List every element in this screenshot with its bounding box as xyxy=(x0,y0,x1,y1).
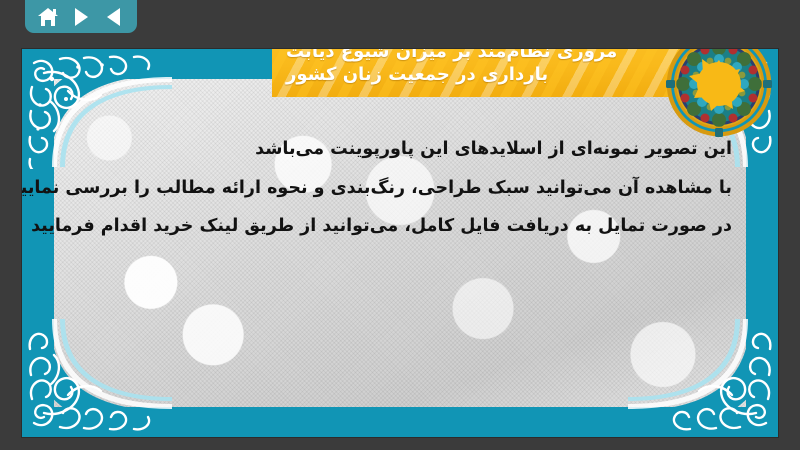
body-line-1: این تصویر نمونه‌ای از اسلایدهای این پاور… xyxy=(68,141,732,159)
slide-viewer-root: مروری نظام‌مند بر میزان شیوع دیابت باردا… xyxy=(0,0,800,450)
navigation-toolbar xyxy=(25,0,137,33)
persian-medallion-icon xyxy=(666,49,772,137)
home-icon xyxy=(38,8,58,26)
next-slide-button[interactable] xyxy=(68,4,94,30)
home-button[interactable] xyxy=(35,4,61,30)
body-line-3: در صورت تمایل به دریافت فایل کامل، می‌تو… xyxy=(68,218,732,236)
presentation-slide: مروری نظام‌مند بر میزان شیوع دیابت باردا… xyxy=(22,49,778,437)
slide-title-line-2: بارداری در جمعیت زنان کشور xyxy=(286,63,548,86)
arrow-right-icon xyxy=(75,8,88,26)
slide-body-text: این تصویر نمونه‌ای از اسلایدهای این پاور… xyxy=(68,141,732,257)
previous-slide-button[interactable] xyxy=(101,4,127,30)
arrow-left-icon xyxy=(107,8,120,26)
slide-title-line-1: مروری نظام‌مند بر میزان شیوع دیابت xyxy=(286,49,617,63)
body-line-2: با مشاهده آن می‌توانید سبک طراحی، رنگ‌بن… xyxy=(68,180,732,198)
